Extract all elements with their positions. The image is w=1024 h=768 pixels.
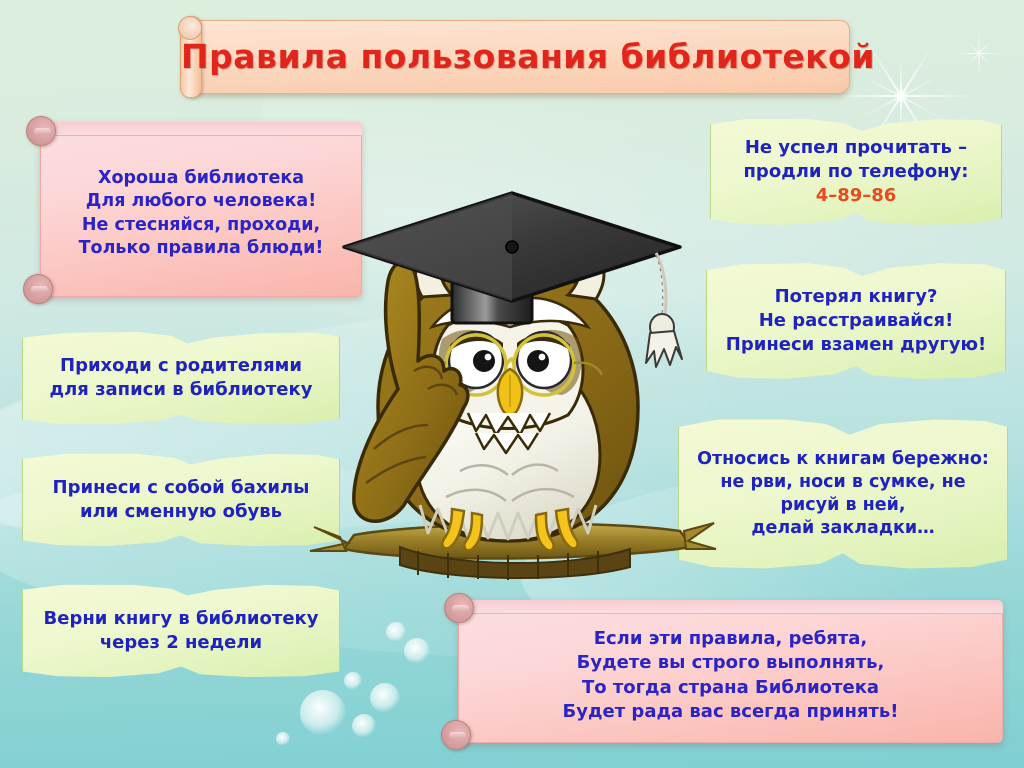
panel-line: Если эти правила, ребята,	[594, 627, 868, 651]
panel-rule-shoes: Принеси с собой бахилы или сменную обувь	[22, 452, 340, 548]
panel-line: Будете вы строго выполнять,	[577, 651, 885, 675]
panel-line: не рви, носи в сумке, не	[720, 471, 965, 494]
panel-text: Принеси с собой бахилы или сменную обувь	[22, 452, 340, 548]
panel-rule-phone: Не успел прочитать – продли по телефону:…	[710, 118, 1002, 226]
panel-line: продли по телефону:	[744, 160, 969, 184]
bokeh-bubble	[386, 622, 406, 642]
panel-line: или сменную обувь	[80, 500, 282, 524]
panel-line: Будет рада вас всегда принять!	[563, 700, 899, 724]
panel-line: Для любого человека!	[86, 190, 316, 213]
sparkle-small-icon	[978, 52, 980, 54]
sparkle-icon	[900, 95, 902, 97]
page-title: Правила пользования библиотекой	[208, 20, 848, 92]
panel-text: Потерял книгу? Не расстраивайся! Принеси…	[706, 262, 1006, 380]
panel-rule-parents: Приходи с родителями для записи в библио…	[22, 330, 340, 426]
library-rules-poster: Правила пользования библиотекой Хороша б…	[0, 0, 1024, 768]
panel-line: Принеси с собой бахилы	[53, 476, 310, 500]
owl-scholar-illustration	[300, 175, 720, 605]
poster-title-scroll: Правила пользования библиотекой	[168, 14, 868, 98]
panel-line: Только правила блюди!	[79, 237, 324, 260]
panel-line: Не расстраивайся!	[759, 309, 954, 333]
panel-line: Относись к книгам бережно:	[697, 448, 989, 471]
bokeh-bubble	[344, 672, 362, 690]
bokeh-bubble	[352, 714, 376, 738]
panel-line: Потерял книгу?	[775, 285, 938, 309]
panel-text: Приходи с родителями для записи в библио…	[22, 330, 340, 426]
panel-line: Хороша библиотека	[98, 167, 304, 190]
panel-poem-bottom: Если эти правила, ребята, Будете вы стро…	[458, 600, 1003, 743]
panel-line: через 2 недели	[100, 631, 262, 655]
panel-text: Относись к книгам бережно: не рви, носи …	[678, 418, 1008, 570]
bokeh-bubble	[404, 638, 430, 664]
panel-line: для записи в библиотеку	[50, 378, 313, 402]
panel-line: Принеси взамен другую!	[726, 333, 986, 357]
panel-line: делай закладки…	[751, 517, 934, 540]
panel-rule-return: Верни книгу в библиотеку через 2 недели	[22, 583, 340, 679]
bokeh-bubble	[370, 683, 400, 713]
panel-line: То тогда страна Библиотека	[582, 676, 879, 700]
panel-text: Если эти правила, ребята, Будете вы стро…	[458, 600, 1003, 743]
panel-line: Не успел прочитать –	[745, 136, 967, 160]
panel-line: рисуй в ней,	[781, 494, 906, 517]
panel-line: Приходи с родителями	[60, 354, 302, 378]
phone-number: 4–89–86	[816, 184, 897, 208]
bokeh-bubble	[276, 732, 290, 746]
panel-line: Не стесняйся, проходи,	[82, 214, 320, 237]
panel-rule-care: Относись к книгам бережно: не рви, носи …	[678, 418, 1008, 570]
bokeh-bubble	[300, 690, 346, 736]
panel-rule-lost: Потерял книгу? Не расстраивайся! Принеси…	[706, 262, 1006, 380]
panel-text: Верни книгу в библиотеку через 2 недели	[22, 583, 340, 679]
panel-text: Не успел прочитать – продли по телефону:…	[710, 118, 1002, 226]
panel-line: Верни книгу в библиотеку	[44, 607, 319, 631]
